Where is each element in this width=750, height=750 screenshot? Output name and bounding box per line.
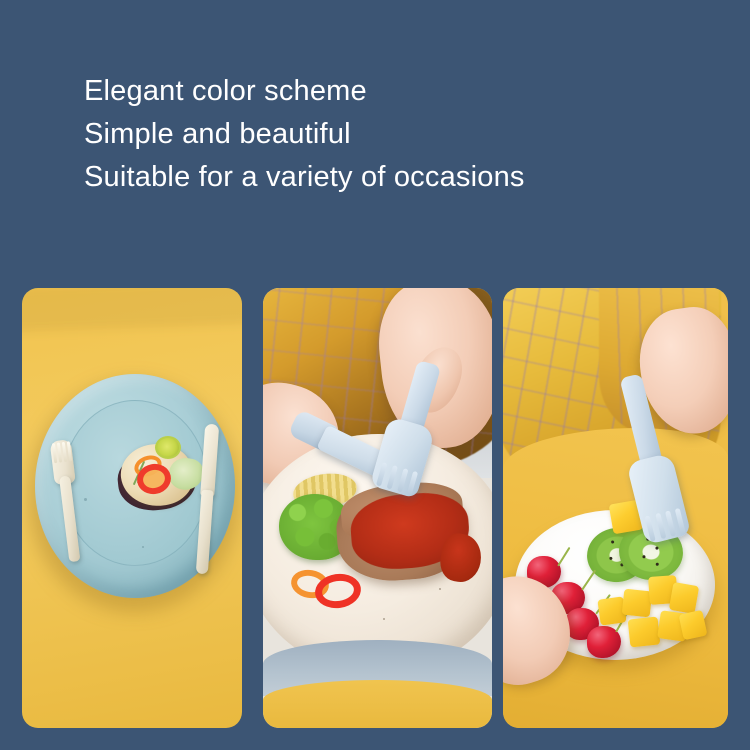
plate-speck bbox=[142, 546, 144, 548]
kiwi-seed bbox=[611, 540, 614, 543]
fork-tine bbox=[655, 513, 666, 539]
fork-tine bbox=[675, 508, 686, 534]
knife-blade bbox=[200, 424, 219, 497]
mango-cube bbox=[622, 589, 653, 618]
mango-cube bbox=[669, 582, 699, 614]
knife-handle bbox=[196, 490, 214, 575]
scene-cutting-steak bbox=[263, 288, 492, 728]
fork-tine bbox=[376, 462, 387, 486]
photo-panel-middle bbox=[263, 288, 492, 728]
yellow-table-edge bbox=[263, 680, 492, 728]
fork-tine bbox=[397, 468, 408, 492]
mango-cube bbox=[628, 617, 661, 648]
kiwi-seed bbox=[656, 563, 659, 566]
fork-tine bbox=[665, 510, 676, 536]
scene-fruit-plate bbox=[503, 288, 728, 728]
kiwi-seed bbox=[609, 557, 612, 560]
plate-speck bbox=[383, 618, 385, 620]
fork-tine bbox=[645, 515, 656, 541]
scene-blue-plate bbox=[22, 288, 242, 728]
photo-panel-right bbox=[503, 288, 728, 728]
photo-panel-left bbox=[22, 288, 242, 728]
fork-tine bbox=[387, 465, 398, 489]
lime-slice bbox=[155, 436, 181, 459]
fork-tine bbox=[407, 471, 418, 495]
plate-speck bbox=[439, 588, 441, 590]
plate-speck bbox=[84, 498, 87, 501]
product-photo-strip bbox=[0, 0, 750, 750]
mango-cube bbox=[679, 610, 708, 640]
